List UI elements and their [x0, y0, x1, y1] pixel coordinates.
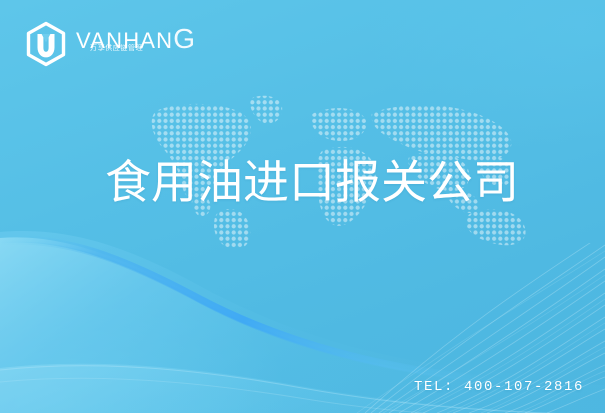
logo-wordmark-tail: G [173, 23, 195, 54]
logo-subtitle: 万享供应链管理 [90, 44, 143, 53]
logo-text-block: VANHANG 万享供应链管理 [76, 27, 195, 61]
contact-phone: TEL: 400-107-2816 [414, 379, 584, 395]
company-logo[interactable]: VANHANG 万享供应链管理 [24, 21, 195, 67]
promo-banner: VANHANG 万享供应链管理 食用油进口报关公司 TEL: 400-107-2… [0, 0, 605, 413]
page-title: 食用油进口报关公司 [105, 156, 519, 208]
hexagon-u-logo-icon [24, 21, 68, 67]
